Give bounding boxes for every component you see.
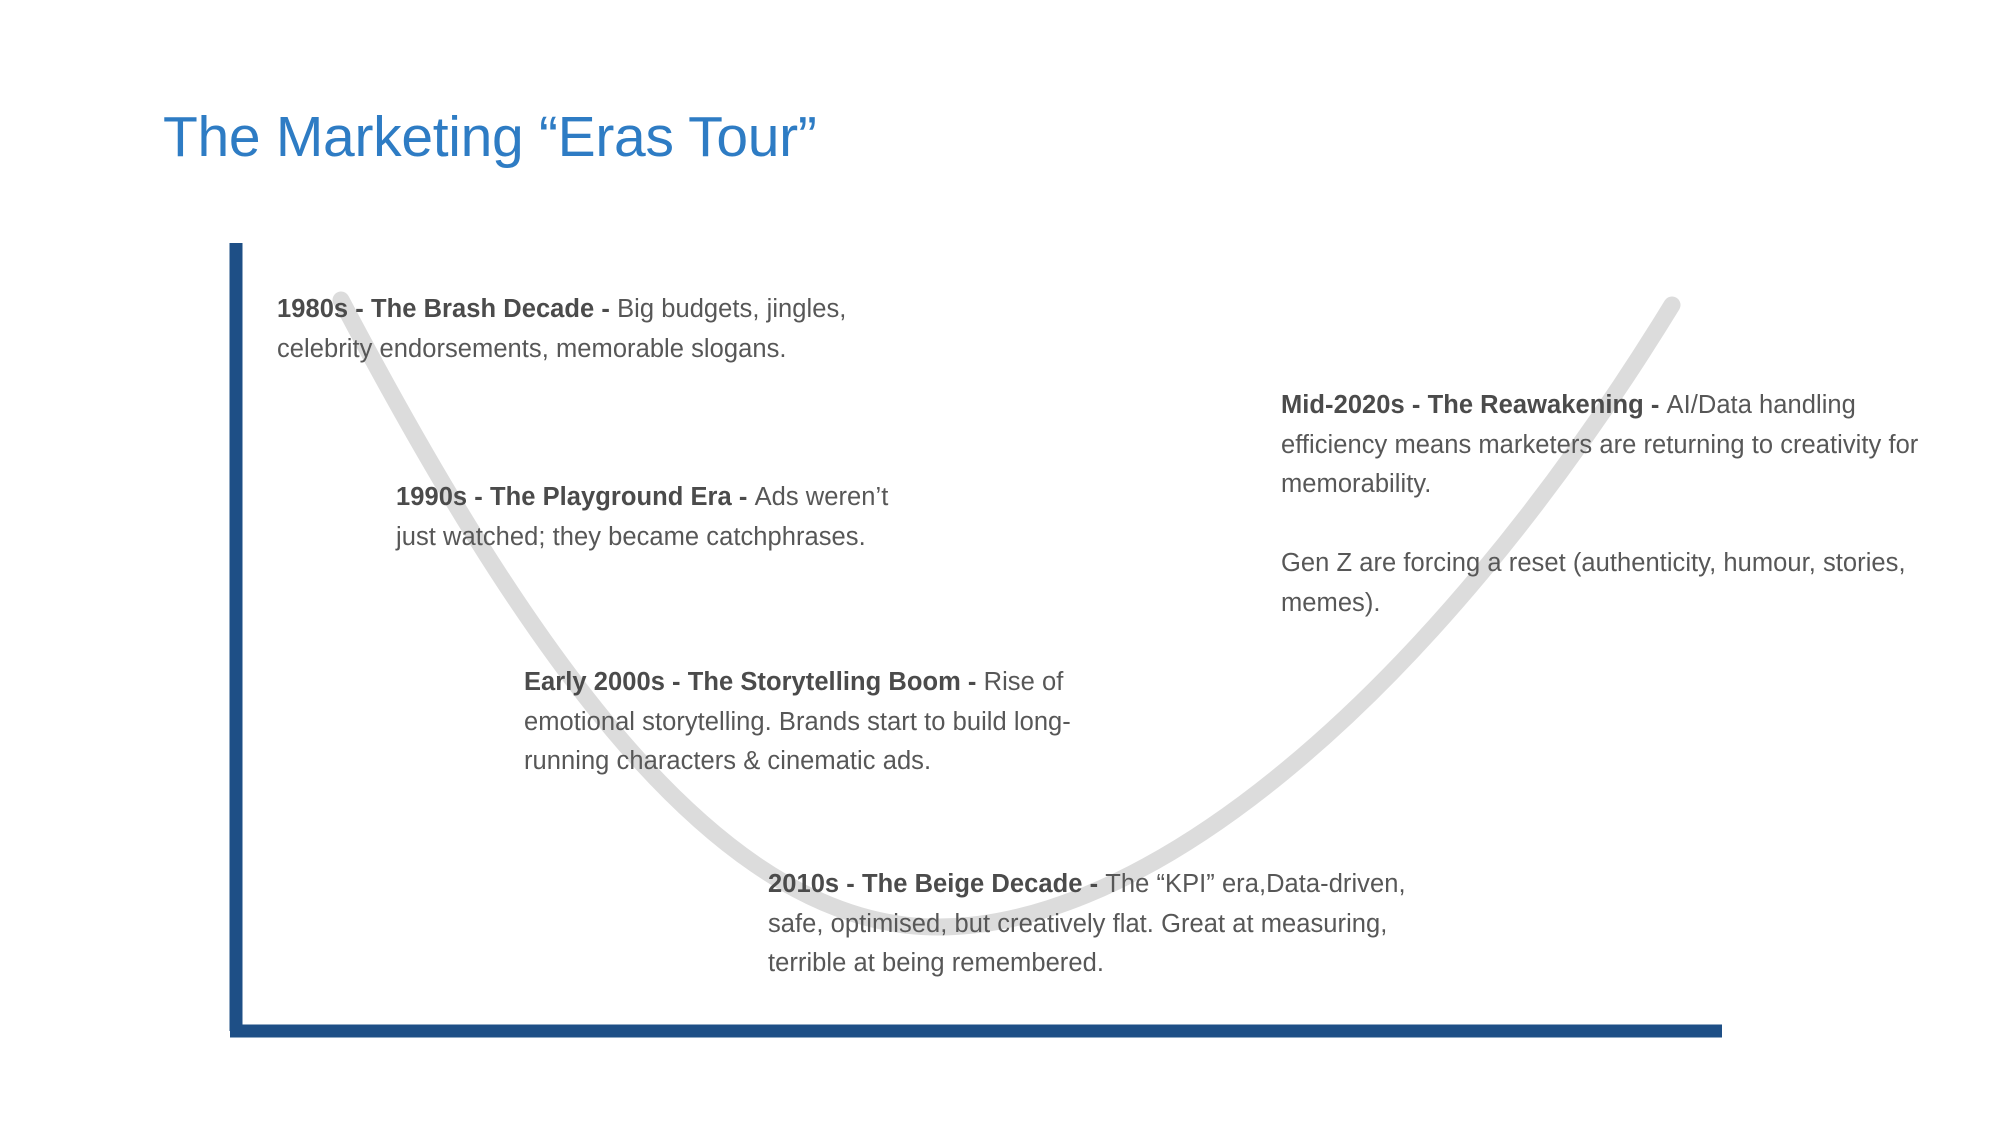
slide-canvas: The Marketing “Eras Tour” 1980s - The Br…	[0, 0, 2000, 1125]
era-annotation-mid-2020s: Mid-2020s - The Reawakening - AI/Data ha…	[1281, 386, 1961, 623]
era-annotation-1990s: 1990s - The Playground Era - Ads weren’t…	[396, 478, 916, 557]
era-body-2-mid-2020s: Gen Z are forcing a reset (authenticity,…	[1281, 549, 1906, 617]
era-label-early-2000s: Early 2000s - The Storytelling Boom -	[524, 668, 984, 696]
era-annotation-early-2000s: Early 2000s - The Storytelling Boom - Ri…	[524, 663, 1094, 782]
era-annotation-2010s: 2010s - The Beige Decade - The “KPI” era…	[768, 865, 1448, 984]
era-label-2010s: 2010s - The Beige Decade -	[768, 870, 1105, 898]
era-label-1980s: 1980s - The Brash Decade -	[277, 295, 617, 323]
era-annotation-1980s: 1980s - The Brash Decade - Big budgets, …	[277, 290, 867, 369]
era-label-1990s: 1990s - The Playground Era -	[396, 483, 755, 511]
paragraph-spacer	[1281, 505, 1961, 545]
era-label-mid-2020s: Mid-2020s - The Reawakening -	[1281, 391, 1667, 419]
